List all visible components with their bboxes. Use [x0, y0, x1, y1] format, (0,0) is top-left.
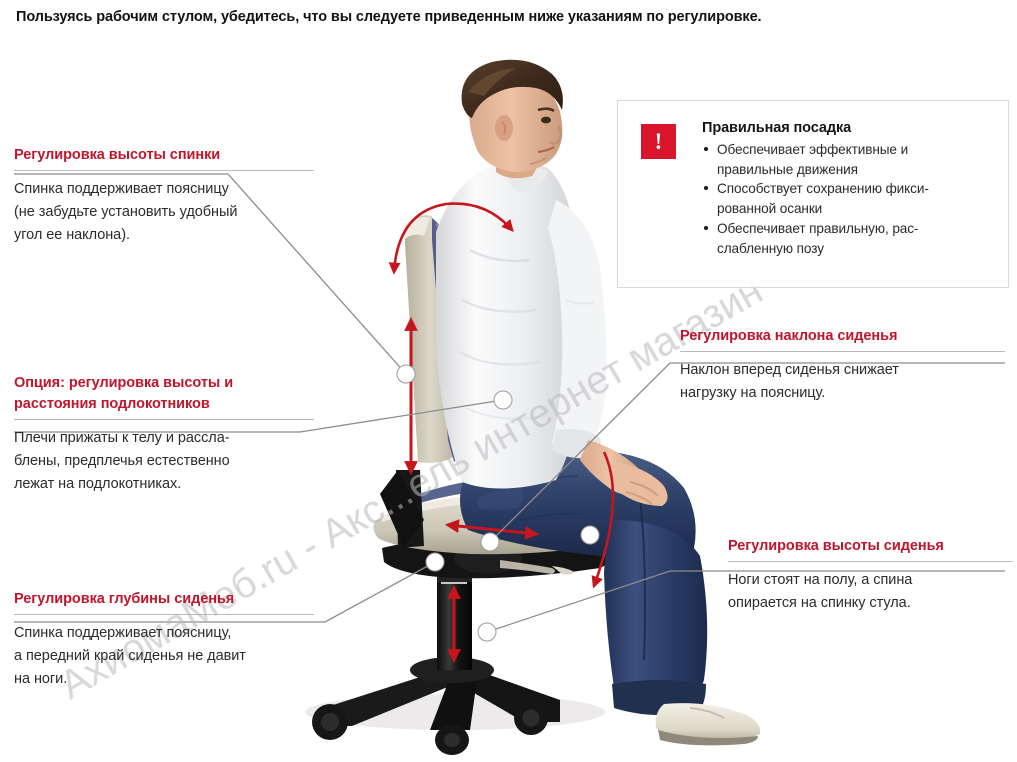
annotation-divider [728, 561, 1013, 562]
annotation-body: Спинка поддерживает поясницу, а передний… [14, 622, 314, 691]
annotation-seat-tilt: Регулировка наклона сиденья Наклон впере… [680, 326, 1005, 405]
annotation-title: Опция: регулировка высоты и расстояния п… [14, 373, 314, 415]
annotation-divider [14, 170, 314, 171]
bullet-line-2: правильные движения [717, 160, 998, 180]
bullet-line-1: Обеспечивает эффективные и [717, 142, 908, 157]
bullet-line-1: Обеспечивает правильную, рас- [717, 221, 918, 236]
annotation-line: угол ее наклона). [14, 224, 314, 247]
infobox-bullet-list: Обеспечивает эффективные и правильные дв… [702, 140, 998, 258]
legs [460, 451, 707, 715]
annotation-line: Спинка поддерживает поясницу [14, 178, 314, 201]
infobox-bullet: Обеспечивает правильную, рас- слабленную… [702, 219, 998, 258]
annotation-line: блены, предплечья естественно [14, 450, 314, 473]
bullet-line-2: слабленную позу [717, 239, 998, 259]
infobox-bullet: Способствует сохранению фикси- рованной … [702, 179, 998, 218]
infographic-page: Пользуясь рабочим стулом, убедитесь, что… [0, 0, 1017, 762]
head [462, 60, 563, 179]
annotation-title: Регулировка наклона сиденья [680, 326, 1005, 347]
chair-base [305, 657, 605, 755]
annotation-line: Плечи прижаты к телу и рассла- [14, 427, 314, 450]
annotation-line: нагрузку на поясницу. [680, 382, 1005, 405]
correct-posture-infobox: ! Правильная посадка Обеспечивает эффект… [617, 100, 1009, 288]
annotation-line: Ноги стоят на полу, а спина [728, 569, 1013, 592]
annotation-body: Ноги стоят на полу, а спина опирается на… [728, 569, 1013, 615]
infobox-title: Правильная посадка [702, 120, 998, 136]
annotation-divider [14, 614, 314, 615]
bullet-line-1: Способствует сохранению фикси- [717, 181, 929, 196]
bullet-line-2: рованной осанки [717, 199, 998, 219]
annotation-divider [14, 419, 314, 420]
annotation-seat-height: Регулировка высоты сиденья Ноги стоят на… [728, 536, 1013, 615]
annotation-backrest-height: Регулировка высоты спинки Спинка поддерж… [14, 145, 314, 247]
annotation-line: Спинка поддерживает поясницу, [14, 622, 314, 645]
annotation-armrest: Опция: регулировка высоты и расстояния п… [14, 373, 314, 496]
annotation-body: Наклон вперед сиденья снижает нагрузку н… [680, 359, 1005, 405]
annotation-line: лежат на подлокотниках. [14, 473, 314, 496]
torso-shirt [436, 162, 606, 489]
annotation-line: на ноги. [14, 668, 314, 691]
annotation-line: Наклон вперед сиденья снижает [680, 359, 1005, 382]
warning-exclamation-icon: ! [641, 124, 676, 159]
warning-glyph: ! [655, 130, 663, 153]
annotation-title: Регулировка высоты сиденья [728, 536, 1013, 557]
annotation-body: Плечи прижаты к телу и рассла- блены, пр… [14, 427, 314, 496]
annotation-title: Регулировка глубины сиденья [14, 589, 314, 610]
infobox-bullet: Обеспечивает эффективные и правильные дв… [702, 140, 998, 179]
annotation-seat-depth: Регулировка глубины сиденья Спинка подде… [14, 589, 314, 691]
annotation-title: Регулировка высоты спинки [14, 145, 314, 166]
annotation-divider [680, 351, 1005, 352]
annotation-line: опирается на спинку стула. [728, 592, 1013, 615]
annotation-line: (не забудьте установить удобный [14, 201, 314, 224]
annotation-body: Спинка поддерживает поясницу (не забудьт… [14, 178, 314, 247]
shoe [656, 703, 761, 745]
annotation-line: а передний край сиденья не давит [14, 645, 314, 668]
